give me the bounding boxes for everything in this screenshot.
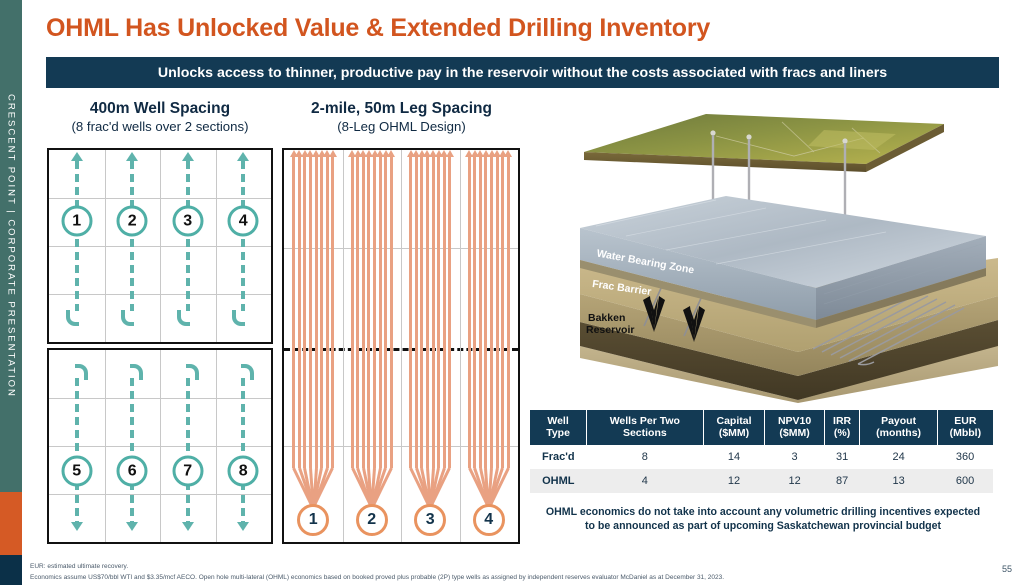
- table-cell-payout: 24: [860, 445, 937, 469]
- table-cell-npv10: 3: [765, 445, 824, 469]
- frac-well-3: 3: [168, 150, 208, 342]
- subtitle-banner: Unlocks access to thinner, productive pa…: [46, 57, 999, 88]
- table-cell-wells: 8: [587, 445, 703, 469]
- ohml-leg: [426, 156, 429, 468]
- ohml-leg: [384, 156, 387, 468]
- table-cell-wells: 4: [587, 469, 703, 493]
- frac-section-north: 1234: [47, 148, 273, 344]
- ohml-leg: [484, 156, 487, 468]
- frac-diagram-title: 400m Well Spacing: [45, 100, 275, 118]
- ohml-leg-diagram: 1234: [282, 148, 520, 544]
- ohml-diagram-title: 2-mile, 50m Leg Spacing: [280, 100, 523, 118]
- flow-arrow-up-icon: [71, 152, 83, 161]
- flow-arrow-up-icon: [182, 152, 194, 161]
- ohml-leg: [420, 156, 423, 468]
- table-cell-irr: 31: [824, 445, 860, 469]
- rail-orange-block: [0, 492, 22, 555]
- ohml-leg: [298, 156, 301, 468]
- frac-well-number-6: 6: [117, 456, 148, 487]
- rail-label-text: CRESCENT POINT | CORPORATE PRESENTATION: [6, 94, 17, 398]
- ohml-leg: [468, 156, 471, 468]
- ohml-leg: [362, 156, 365, 468]
- wellbore-stem: [130, 378, 134, 522]
- frac-well-number-5: 5: [61, 456, 92, 487]
- table-col-header-4: IRR(%): [824, 410, 860, 445]
- wellbore-kink: [177, 310, 190, 326]
- frac-well-number-3: 3: [172, 206, 203, 237]
- table-row: OHML412128713600: [530, 469, 993, 493]
- flow-arrow-up-icon: [126, 152, 138, 161]
- ohml-pad-number-4: 4: [473, 504, 505, 536]
- wellbore-stem: [75, 378, 79, 522]
- frac-diagram-subtitle: (8 frac'd wells over 2 sections): [45, 119, 275, 134]
- wellbore-kink: [66, 310, 79, 326]
- frac-section-south: 5678: [47, 348, 273, 544]
- ohml-gridline-vertical: [460, 150, 461, 542]
- label-bakken: Bakken: [588, 312, 625, 324]
- ohml-pad-number-1: 1: [297, 504, 329, 536]
- frac-well-4: 4: [223, 150, 263, 342]
- table-cell-eur: 360: [937, 445, 993, 469]
- table-col-header-1: Wells Per TwoSections: [587, 410, 703, 445]
- frac-well-diagram: 1234 5678: [47, 148, 273, 544]
- frac-well-7: 7: [168, 350, 208, 542]
- frac-well-1: 1: [57, 150, 97, 342]
- footnote-line-1: EUR: estimated ultimate recovery.: [30, 561, 970, 572]
- ohml-leg: [448, 156, 451, 468]
- ohml-leg: [501, 156, 504, 468]
- table-col-header-0: WellType: [530, 410, 587, 445]
- frac-well-number-2: 2: [117, 206, 148, 237]
- ohml-leg: [292, 156, 295, 468]
- brand-rail: CRESCENT POINT | CORPORATE PRESENTATION: [0, 0, 22, 585]
- ohml-leg: [490, 156, 493, 468]
- frac-well-8: 8: [223, 350, 263, 542]
- surface-layer: [584, 114, 944, 172]
- footnote-line-2: Economics assume US$70/bbl WTI and $3.35…: [30, 572, 970, 583]
- ohml-leg: [496, 156, 499, 468]
- frac-well-number-8: 8: [228, 456, 259, 487]
- frac-well-6: 6: [112, 350, 152, 542]
- ohml-leg: [326, 156, 329, 468]
- frac-well-number-4: 4: [228, 206, 259, 237]
- table-col-header-3: NPV10($MM): [765, 410, 824, 445]
- flow-arrow-up-icon: [237, 152, 249, 161]
- ohml-leg: [390, 156, 393, 468]
- ohml-leg: [309, 156, 312, 468]
- frac-well-5: 5: [57, 350, 97, 542]
- flow-arrow-down-icon: [182, 522, 194, 531]
- ohml-gridline-horizontal: [284, 446, 518, 447]
- table-row: Frac'd81433124360: [530, 445, 993, 469]
- table-cell-npv10: 12: [765, 469, 824, 493]
- table-cell-capital: 12: [703, 469, 765, 493]
- page-title: OHML Has Unlocked Value & Extended Drill…: [46, 14, 710, 43]
- ohml-leg: [479, 156, 482, 468]
- ohml-pad-number-3: 3: [414, 504, 446, 536]
- ohml-leg: [367, 156, 370, 468]
- ohml-gridline-vertical: [343, 150, 344, 542]
- ohml-leg: [303, 156, 306, 468]
- ohml-leg: [473, 156, 476, 468]
- economics-table-wrapper: WellTypeWells Per TwoSectionsCapital($MM…: [530, 410, 993, 493]
- frac-well-number-7: 7: [172, 456, 203, 487]
- flow-arrow-down-icon: [126, 522, 138, 531]
- ohml-leg: [443, 156, 446, 468]
- table-cell-eur: 600: [937, 469, 993, 493]
- ohml-leg: [373, 156, 376, 468]
- footnotes: EUR: estimated ultimate recovery. Econom…: [30, 561, 970, 583]
- table-body: Frac'd81433124360OHML412128713600: [530, 445, 993, 493]
- table-note-line-1: OHML economics do not take into account …: [528, 505, 998, 519]
- ohml-leg: [379, 156, 382, 468]
- table-cell-irr: 87: [824, 469, 860, 493]
- wellbore-stem: [186, 378, 190, 522]
- ohml-leg: [351, 156, 354, 468]
- table-cell-type: Frac'd: [530, 445, 587, 469]
- ohml-leg: [437, 156, 440, 468]
- flow-arrow-down-icon: [237, 522, 249, 531]
- table-cell-type: OHML: [530, 469, 587, 493]
- frac-well-2: 2: [112, 150, 152, 342]
- table-col-header-2: Capital($MM): [703, 410, 765, 445]
- page-number: 55: [1002, 564, 1012, 574]
- ohml-gridline-vertical: [401, 150, 402, 542]
- wellbore-kink: [232, 310, 245, 326]
- table-col-header-6: EUR(Mbbl): [937, 410, 993, 445]
- table-note-line-2: to be announced as part of upcoming Sask…: [528, 519, 998, 533]
- flow-arrow-down-icon: [71, 522, 83, 531]
- ohml-gridline-horizontal: [284, 248, 518, 249]
- ohml-leg: [315, 156, 318, 468]
- frac-well-number-1: 1: [61, 206, 92, 237]
- ohml-diagram-heading: 2-mile, 50m Leg Spacing (8-Leg OHML Desi…: [280, 100, 523, 134]
- ohml-leg: [320, 156, 323, 468]
- ohml-leg: [409, 156, 412, 468]
- ohml-pad-number-2: 2: [356, 504, 388, 536]
- subtitle-banner-text: Unlocks access to thinner, productive pa…: [158, 65, 887, 81]
- rail-navy-block: [0, 555, 22, 585]
- ohml-diagram-subtitle: (8-Leg OHML Design): [280, 119, 523, 134]
- table-note: OHML economics do not take into account …: [528, 505, 998, 534]
- ohml-leg: [331, 156, 334, 468]
- ohml-leg: [415, 156, 418, 468]
- ohml-leg: [356, 156, 359, 468]
- table-cell-payout: 13: [860, 469, 937, 493]
- ohml-leg: [507, 156, 510, 468]
- economics-table: WellTypeWells Per TwoSectionsCapital($MM…: [530, 410, 993, 493]
- wellbore-stem: [241, 378, 245, 522]
- rail-label: CRESCENT POINT | CORPORATE PRESENTATION: [0, 0, 22, 492]
- frac-diagram-heading: 400m Well Spacing (8 frac'd wells over 2…: [45, 100, 275, 134]
- table-col-header-5: Payout(months): [860, 410, 937, 445]
- geology-illustration: Water Bearing Zone Frac Barrier Bakken R…: [566, 108, 1014, 403]
- table-header-row: WellTypeWells Per TwoSectionsCapital($MM…: [530, 410, 993, 445]
- wellbore-kink: [121, 310, 134, 326]
- label-reservoir: Reservoir: [586, 324, 634, 336]
- ohml-leg: [432, 156, 435, 468]
- table-cell-capital: 14: [703, 445, 765, 469]
